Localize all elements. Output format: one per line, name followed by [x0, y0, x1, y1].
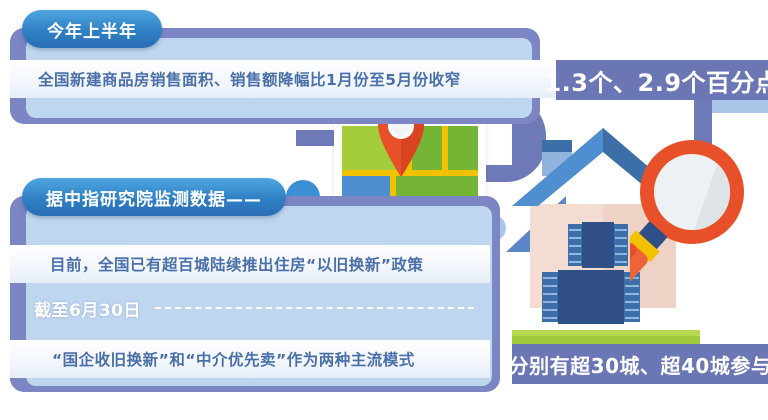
map-block-green-tr2 — [448, 126, 478, 170]
panel-two-text-row-one: 目前，全国已有超百城陆续推出住房“以旧换新”政策 — [10, 245, 490, 283]
value-block-one: 1.3个、2.9个百分点 — [556, 60, 768, 100]
date-line: 截至6月30日 — [34, 292, 484, 324]
panel-one-text-row: 全国新建商品房销售面积、销售额降幅比1月份至5月份收窄 — [10, 60, 562, 98]
pill-tab-two[interactable]: 据中指研究院监测数据—— — [22, 178, 286, 216]
pill-tab-one-label: 今年上半年 — [47, 17, 137, 42]
pill-tab-two-label: 据中指研究院监测数据—— — [46, 185, 262, 210]
dashed-rule — [155, 307, 474, 309]
pill-tab-one[interactable]: 今年上半年 — [22, 10, 162, 48]
lawn-bar-shadow — [512, 330, 700, 336]
panel-one-statement: 全国新建商品房销售面积、销售额降幅比1月份至5月份收窄 — [38, 68, 461, 90]
panel-two-statement-two: “国企收旧换新”和“中介优先卖”作为两种主流模式 — [52, 348, 415, 370]
panel-two-statement: 目前，全国已有超百城陆续推出住房“以旧换新”政策 — [50, 253, 423, 275]
value-block-one-text: 1.3个、2.9个百分点 — [544, 63, 768, 98]
value-block-two: 分别有超30城、超40城参与 — [512, 344, 768, 384]
date-label: 截至6月30日 — [34, 296, 141, 321]
magnifying-glass-icon — [630, 130, 762, 315]
panel-two-text-row-two: “国企收旧换新”和“中介优先卖”作为两种主流模式 — [10, 340, 490, 378]
infographic-canvas: 全国新建商品房销售面积、销售额降幅比1月份至5月份收窄 今年上半年 1.3个、2… — [0, 0, 768, 420]
value-block-two-text: 分别有超30城、超40城参与 — [509, 350, 768, 379]
